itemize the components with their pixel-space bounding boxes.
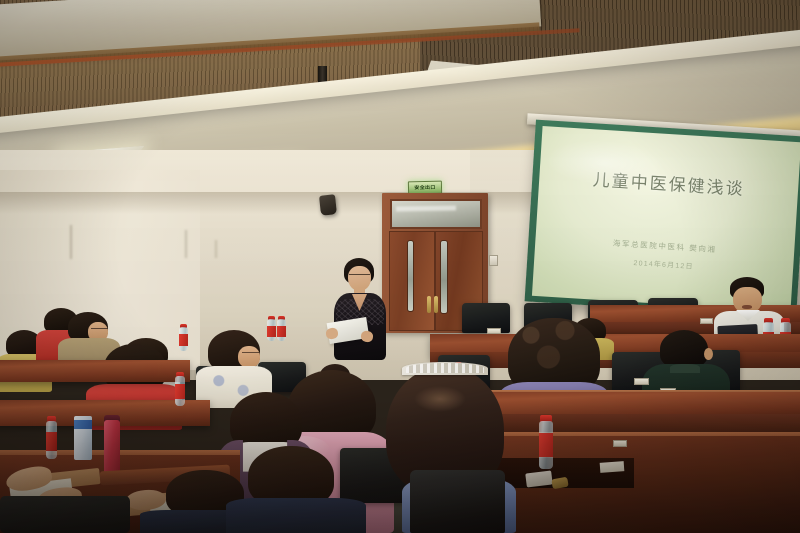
door-handle[interactable] [427,296,431,313]
glasses-icon [91,328,108,332]
chair [410,470,505,533]
attendee-navy-foreground [226,446,366,533]
headband-beads [406,363,484,373]
cup-label [74,420,92,429]
wall-mark [185,230,187,258]
bottle-label [539,433,553,457]
desk [0,360,190,382]
hair [660,330,708,368]
bottle-label [46,432,57,451]
door-transom-window [390,199,482,229]
wall-mark [70,225,72,259]
desk-nameplate [634,378,649,385]
wall-mark [215,240,217,258]
hair-highlight [414,386,466,412]
door-transom-glare [396,205,456,211]
desk-nameplate [487,328,501,334]
mouth [742,305,752,309]
standing-presenter [330,258,396,360]
ear [704,348,713,360]
bottle-label [175,384,185,399]
desk-nameplate [613,440,627,447]
door-glass-panel [407,240,414,312]
lecture-hall-photo: 安全出口 儿童中医保健浅谈 海军总医院中医科 樊向湘 2014年6月12日 [0,0,800,533]
paper [600,461,625,473]
face [733,287,762,314]
slide-presenter-line: 海军总医院中医科 樊向湘 [613,238,717,255]
slide-title: 儿童中医保健浅谈 [592,165,745,199]
bottle-label [277,326,286,337]
polo-collar [670,364,700,373]
desk-nameplate [700,318,713,324]
glasses-icon [242,352,260,356]
torso [226,498,366,533]
chair [0,496,130,533]
slide-date: 2014年6月12日 [633,258,694,272]
glasses-icon [349,274,370,278]
door-glass-panel [440,240,448,314]
face [238,346,260,368]
pink-thermos [104,420,120,478]
wall-speaker-icon [319,194,337,216]
light-switch[interactable] [489,255,498,266]
door-handle[interactable] [434,296,438,313]
exit-sign-label: 安全出口 [414,184,435,191]
